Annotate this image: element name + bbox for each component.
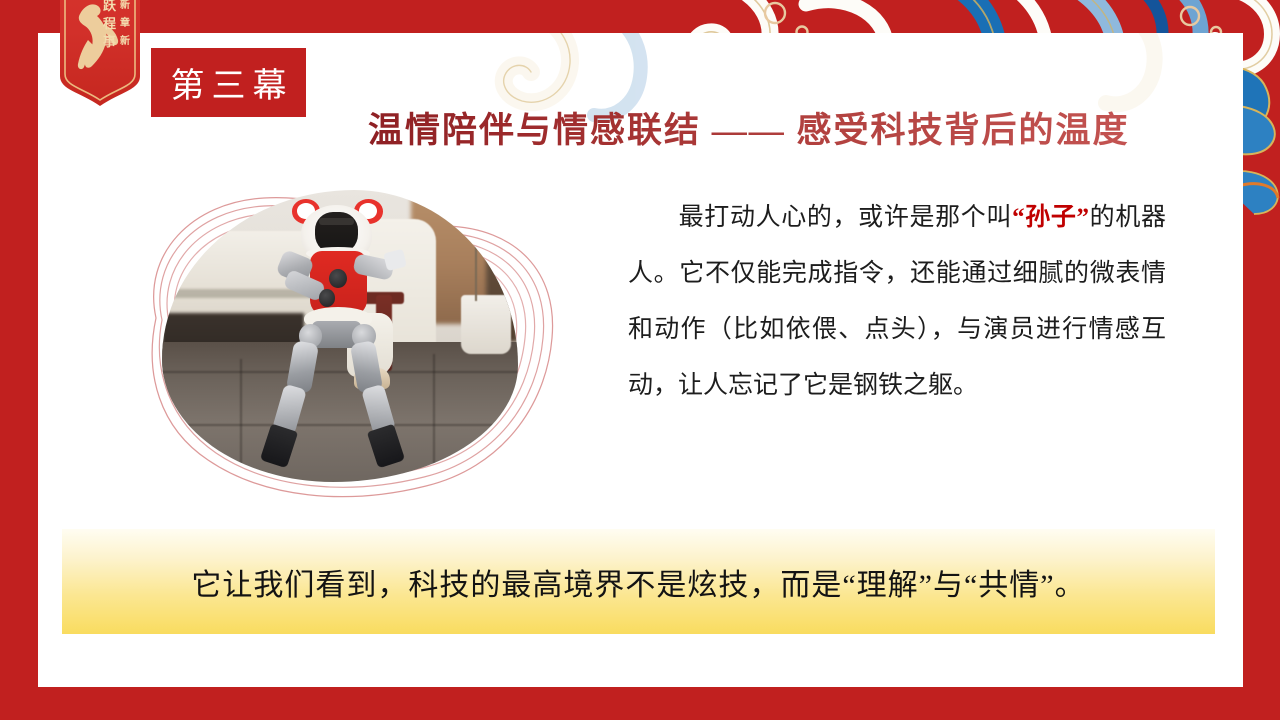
tag-char-2: 新 bbox=[120, 0, 130, 11]
tag-char-6: 新 bbox=[120, 34, 130, 47]
highlight-term: “孙子” bbox=[1012, 204, 1089, 231]
body-text-part1: 最打动人心的，或许是那个叫 bbox=[678, 204, 1012, 231]
highlight-banner: 它让我们看到，科技的最高境界不是炫技，而是“理解”与“共情”。 bbox=[62, 529, 1215, 634]
photo-figure bbox=[96, 168, 576, 513]
content-card: 温情陪伴与情感联结 —— 感受科技背后的温度 bbox=[38, 33, 1243, 687]
decorative-ribbon-tag: 跃 新 程 章 事 新 bbox=[58, 0, 142, 110]
act-badge-label: 第三幕 bbox=[164, 58, 294, 107]
tag-char-3: 程 bbox=[103, 16, 116, 31]
tag-char-5: 事 bbox=[103, 34, 116, 49]
act-badge: 第三幕 bbox=[151, 48, 306, 117]
tag-char-4: 章 bbox=[120, 16, 130, 29]
slide-canvas: 温情陪伴与情感联结 —— 感受科技背后的温度 bbox=[0, 0, 1280, 720]
page-title: 温情陪伴与情感联结 —— 感受科技背后的温度 bbox=[368, 102, 1130, 153]
banner-text: 它让我们看到，科技的最高境界不是炫技，而是“理解”与“共情”。 bbox=[191, 560, 1085, 604]
robot-photo bbox=[162, 190, 518, 482]
tag-char-1: 跃 bbox=[103, 0, 117, 13]
body-text-part2: 的机器人。它不仅能完成指令，还能通过细腻的微表情和动作（比如依偎、点头），与演员… bbox=[628, 204, 1166, 399]
body-paragraph: 最打动人心的，或许是那个叫“孙子”的机器人。它不仅能完成指令，还能通过细腻的微表… bbox=[628, 190, 1166, 414]
